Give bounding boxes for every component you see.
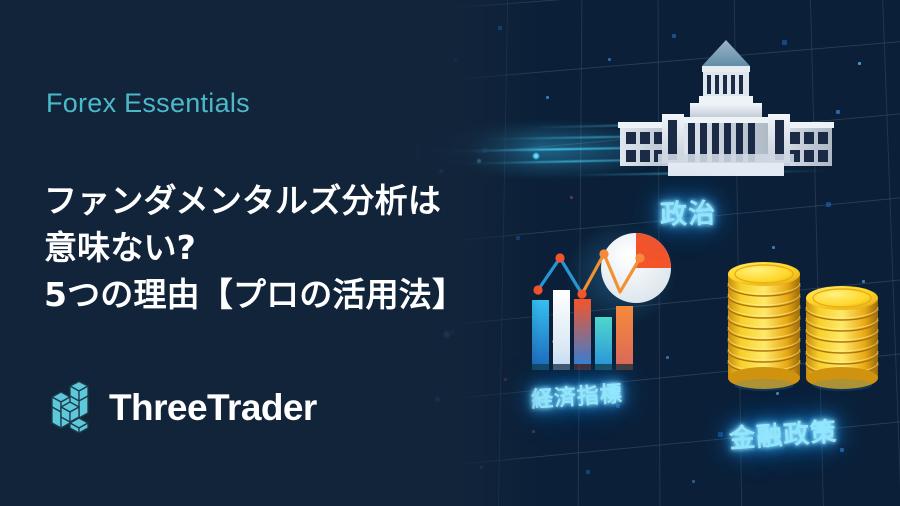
text-content-panel: Forex Essentials ファンダメンタルズ分析は 意味ない? 5つの理… xyxy=(0,0,480,506)
isometric-cube-logo-icon xyxy=(44,381,96,433)
brand-logo: ThreeTrader xyxy=(44,381,317,433)
headline-line-3: 5つの理由【プロの活用法】 xyxy=(44,272,474,319)
eyebrow-text: Forex Essentials xyxy=(46,88,250,119)
coin-stacks-icon xyxy=(722,252,882,387)
page-title: ファンダメンタルズ分析は 意味ない? 5つの理由【プロの活用法】 xyxy=(44,178,474,319)
label-politics: 政治 xyxy=(659,191,716,231)
government-building-icon xyxy=(606,28,846,178)
headline-line-1: ファンダメンタルズ分析は xyxy=(44,178,474,225)
label-monetary-policy: 金融政策 xyxy=(728,411,838,455)
headline-line-2: 意味ない? xyxy=(44,225,474,272)
banner-root: 政治 経済指標 金融政策 Forex Essentials ファンダメンタルズ分… xyxy=(0,0,900,506)
brand-name: ThreeTrader xyxy=(109,389,317,426)
charts-icon xyxy=(528,228,678,368)
label-economic-indicators: 経済指標 xyxy=(530,376,624,414)
